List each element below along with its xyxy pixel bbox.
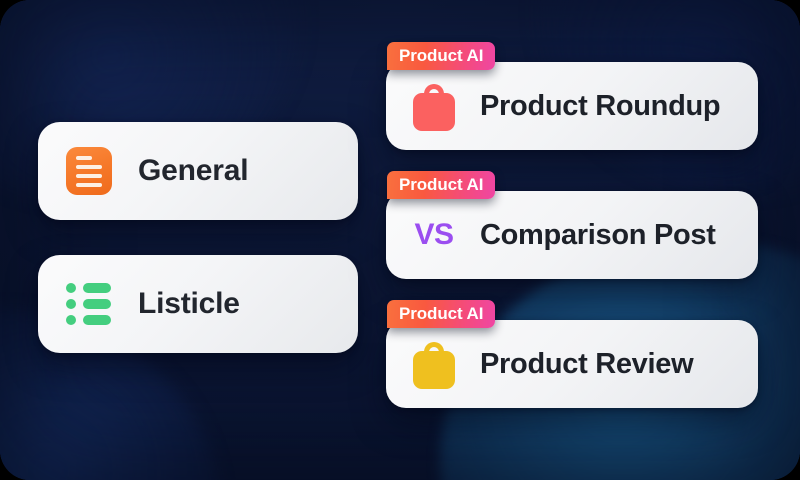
bulleted-list-icon (66, 283, 112, 325)
card-comparison-post[interactable]: Product AI VS Comparison Post (386, 171, 758, 279)
status-badge-product-ai: Product AI (387, 42, 495, 70)
card-listicle[interactable]: Listicle (38, 255, 358, 353)
document-lines-icon (66, 147, 112, 195)
content-type-selector-panel: General Listicle Product AI Product Roun… (0, 0, 800, 480)
status-badge-product-ai: Product AI (387, 300, 495, 328)
status-badge-product-ai: Product AI (387, 171, 495, 199)
general-templates-column: General Listicle (38, 122, 358, 353)
card-product-review-body[interactable]: Product Review (386, 320, 758, 408)
card-product-roundup-body[interactable]: Product Roundup (386, 62, 758, 150)
card-product-roundup[interactable]: Product AI Product Roundup (386, 42, 758, 150)
card-product-roundup-title: Product Roundup (480, 90, 720, 123)
card-listicle-label: Listicle (138, 287, 240, 321)
vs-icon: VS (410, 218, 458, 252)
card-product-review[interactable]: Product AI Product Review (386, 300, 758, 408)
card-comparison-post-title: Comparison Post (480, 219, 716, 252)
card-product-review-title: Product Review (480, 348, 693, 381)
card-general-label: General (138, 154, 248, 188)
shopping-bag-icon (410, 339, 458, 389)
product-ai-templates-column: Product AI Product Roundup Product AI VS… (386, 42, 758, 408)
card-comparison-post-body[interactable]: VS Comparison Post (386, 191, 758, 279)
card-general[interactable]: General (38, 122, 358, 220)
shopping-bag-icon (410, 81, 458, 131)
